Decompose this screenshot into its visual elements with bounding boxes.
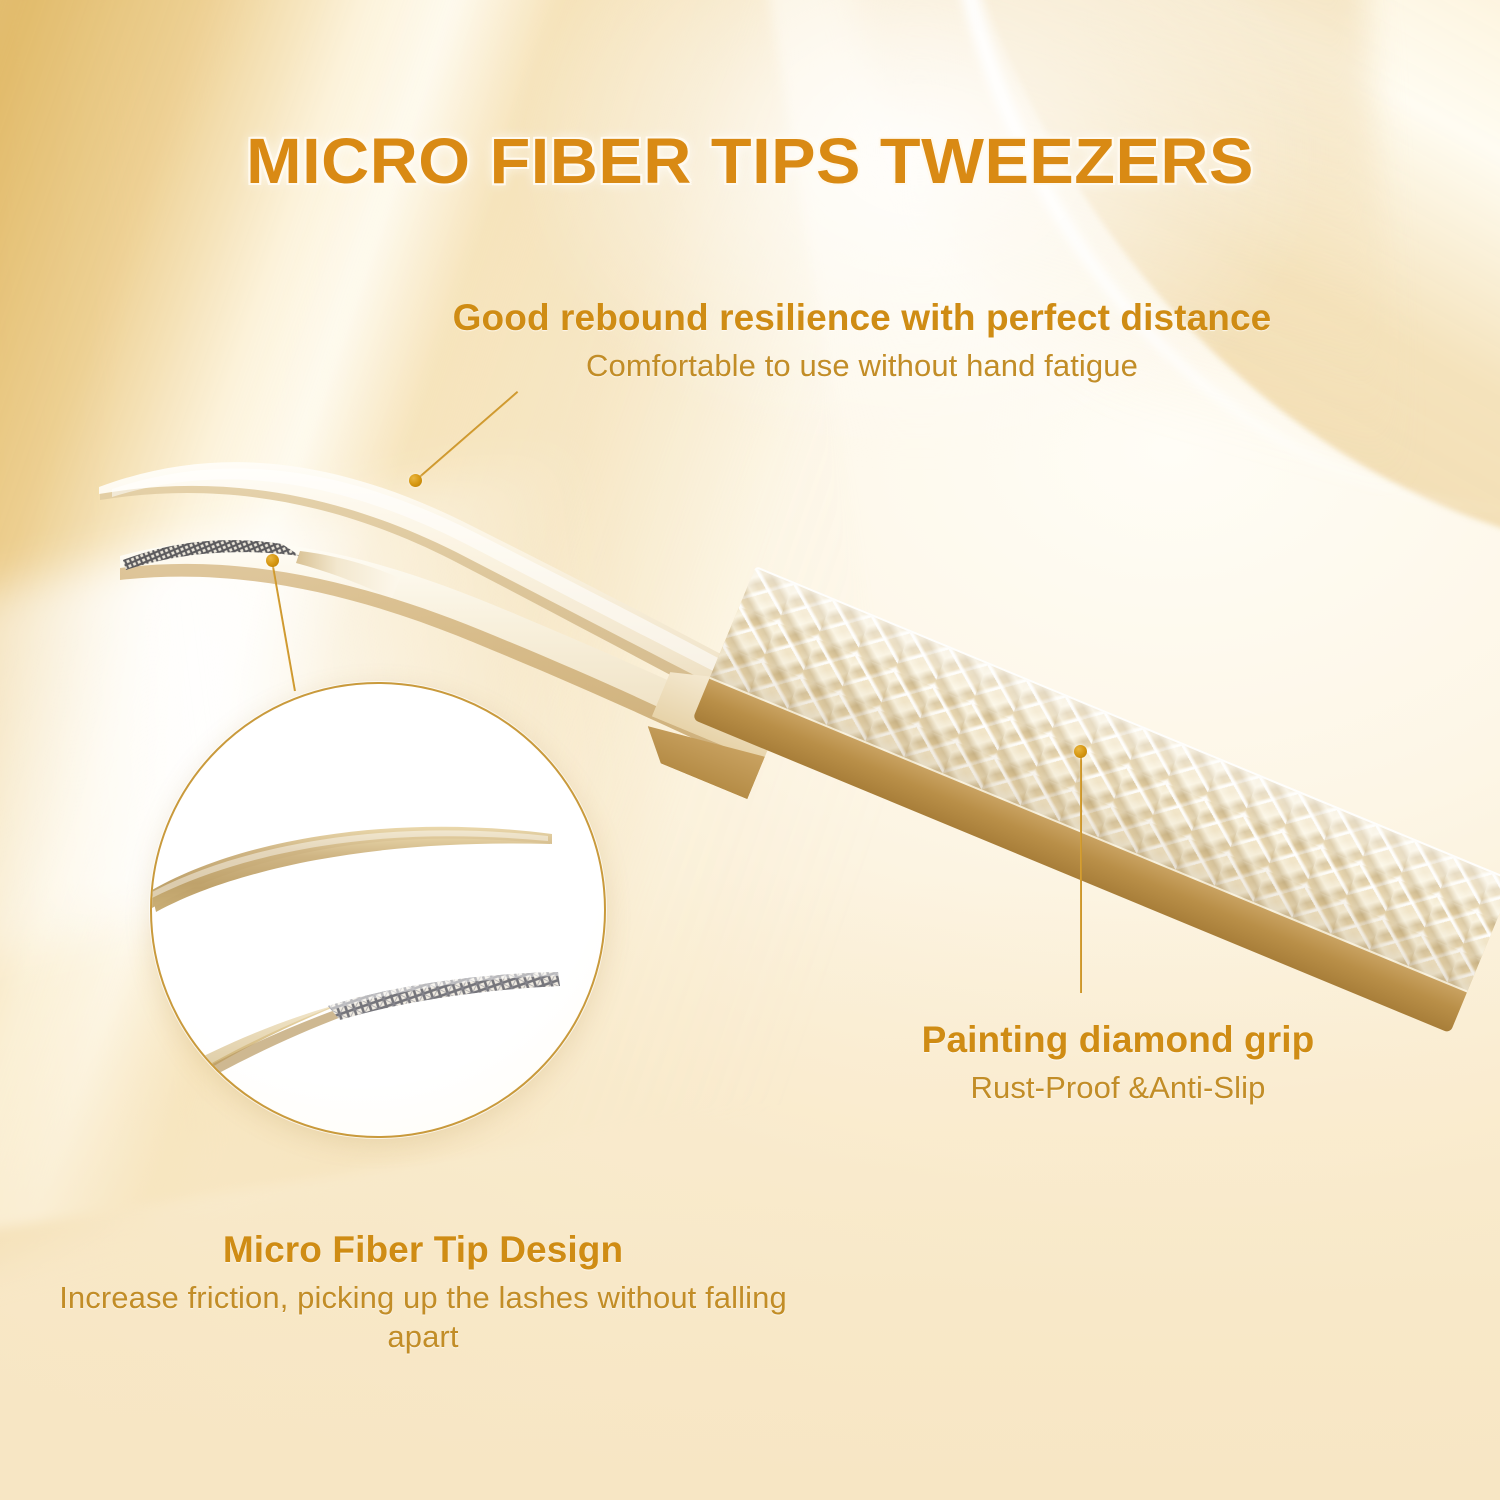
callout-fiber-tip-title: Micro Fiber Tip Design	[58, 1228, 788, 1272]
callout-grip-subtitle: Rust-Proof &Anti-Slip	[778, 1068, 1458, 1107]
magnifier-contents	[152, 684, 604, 1136]
product-infographic: MICRO FIBER TIPS TWEEZERS	[0, 0, 1500, 1500]
callout-fiber-tip-subtitle: Increase friction, picking up the lashes…	[58, 1278, 788, 1356]
leader-dot-grip	[1074, 745, 1087, 758]
callout-rebound-title: Good rebound resilience with perfect dis…	[452, 296, 1272, 340]
callout-grip: Painting diamond grip Rust-Proof &Anti-S…	[778, 1018, 1458, 1107]
callout-rebound-subtitle: Comfortable to use without hand fatigue	[452, 346, 1272, 385]
leader-dot-fiber-tip	[266, 554, 279, 567]
callout-grip-title: Painting diamond grip	[778, 1018, 1458, 1062]
leader-dot-rebound	[409, 474, 422, 487]
leader-line-grip	[1080, 753, 1082, 993]
magnifier-circle	[150, 682, 606, 1138]
callout-fiber-tip: Micro Fiber Tip Design Increase friction…	[58, 1228, 788, 1356]
callout-rebound: Good rebound resilience with perfect dis…	[452, 296, 1272, 385]
